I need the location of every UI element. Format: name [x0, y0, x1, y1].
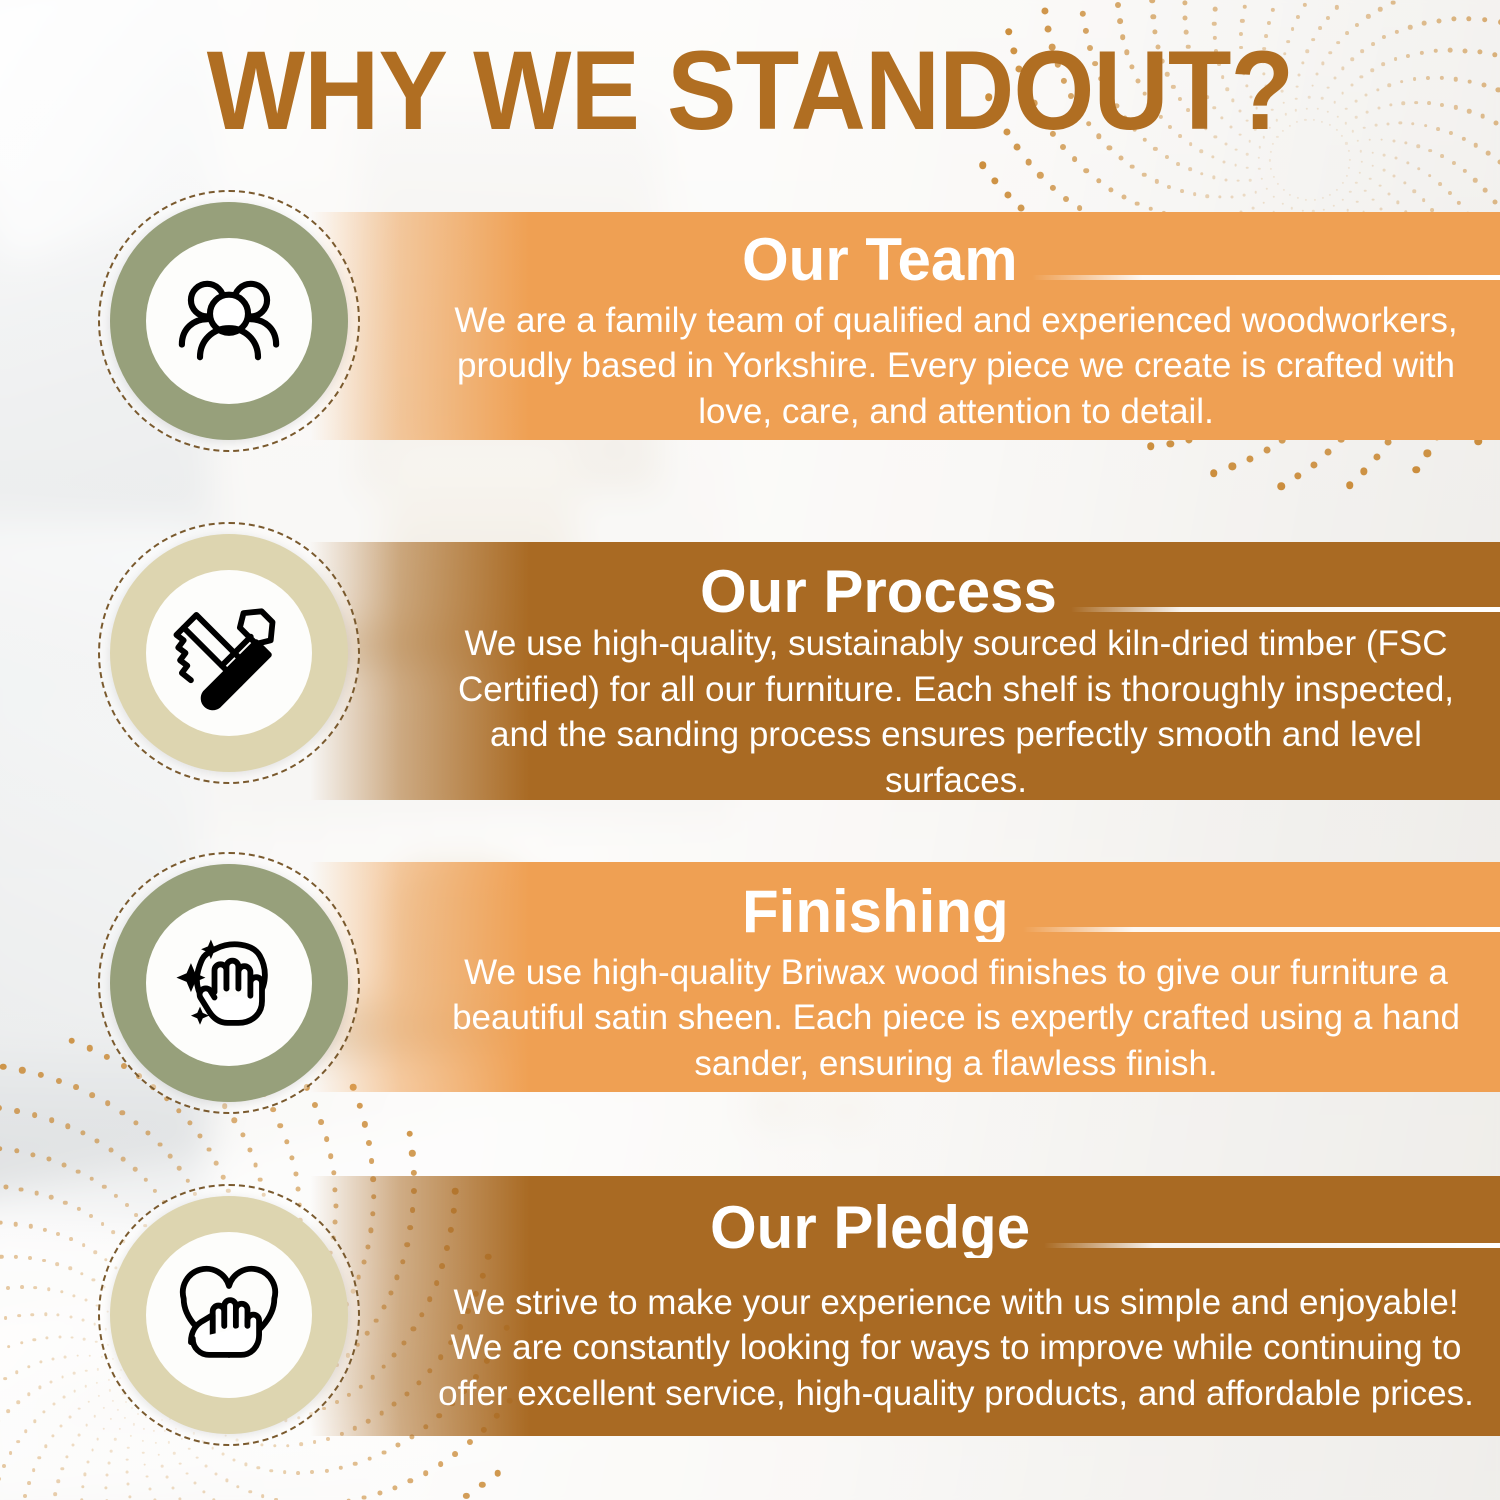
feature-banner: Our ProcessWe use high-quality, sustaina… — [310, 542, 1500, 800]
heading-divider-rule — [1023, 927, 1500, 932]
people-group-icon — [171, 263, 287, 379]
banner-heading-strip: Our Process — [310, 542, 1500, 622]
heading-divider-rule — [1032, 275, 1500, 280]
icon-disc — [146, 570, 312, 736]
icon-ring — [110, 534, 348, 772]
saw-hammer-tools-icon — [171, 595, 287, 711]
feature-body-text: We strive to make your experience with u… — [430, 1280, 1482, 1417]
feature-body-text: We are a family team of qualified and ex… — [430, 298, 1482, 435]
banner-body-strip: We use high-quality, sustainably sourced… — [310, 622, 1500, 800]
icon-disc — [146, 900, 312, 1066]
heading-divider-rule — [1071, 607, 1500, 612]
feature-heading: Finishing — [742, 882, 1009, 942]
feature-banner: Our PledgeWe strive to make your experie… — [310, 1176, 1500, 1436]
icon-disc — [146, 1232, 312, 1398]
icon-disc — [146, 238, 312, 404]
banner-body-strip: We strive to make your experience with u… — [310, 1258, 1500, 1436]
feature-heading: Our Team — [742, 230, 1018, 290]
feature-heading: Our Process — [700, 562, 1057, 622]
feature-icon-badge — [98, 190, 360, 452]
icon-ring — [110, 1196, 348, 1434]
banner-heading-strip: Finishing — [310, 862, 1500, 942]
page-title: WHY WE STANDOUT? — [53, 34, 1448, 148]
heading-divider-rule — [1044, 1243, 1500, 1248]
feature-banner: Our TeamWe are a family team of qualifie… — [310, 212, 1500, 440]
feature-heading: Our Pledge — [710, 1198, 1030, 1258]
feature-icon-badge — [98, 522, 360, 784]
feature-icon-badge — [98, 1184, 360, 1446]
banner-heading-strip: Our Team — [310, 212, 1500, 290]
feature-body-text: We use high-quality Briwax wood finishes… — [430, 950, 1482, 1087]
icon-ring — [110, 202, 348, 440]
infographic-canvas: WHY WE STANDOUT? Our TeamWe are a family… — [0, 0, 1500, 1500]
banner-body-strip: We are a family team of qualified and ex… — [310, 290, 1500, 440]
hand-polishing-sparkle-icon — [171, 925, 287, 1041]
hand-heart-icon — [171, 1257, 287, 1373]
icon-ring — [110, 864, 348, 1102]
feature-banner: FinishingWe use high-quality Briwax wood… — [310, 862, 1500, 1092]
feature-icon-badge — [98, 852, 360, 1114]
feature-body-text: We use high-quality, sustainably sourced… — [430, 621, 1482, 803]
banner-heading-strip: Our Pledge — [310, 1176, 1500, 1258]
banner-body-strip: We use high-quality Briwax wood finishes… — [310, 942, 1500, 1092]
